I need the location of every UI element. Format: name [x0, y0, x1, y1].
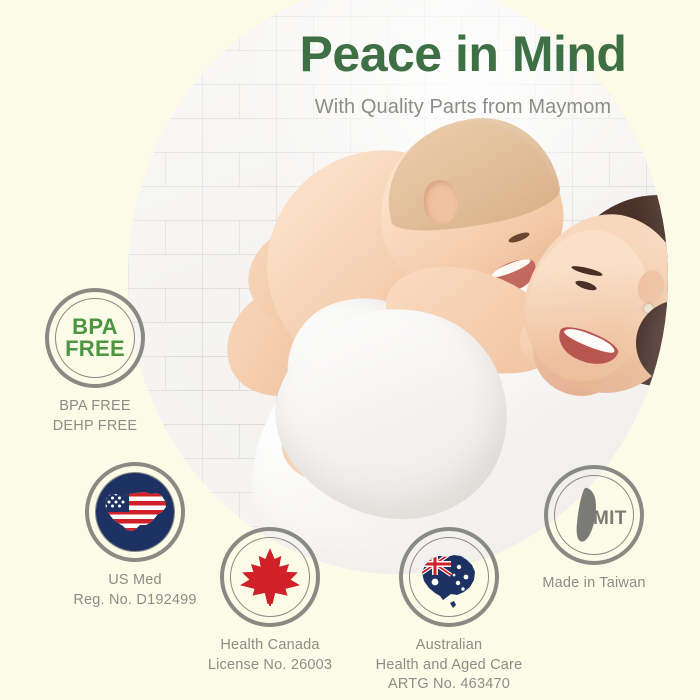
bpa-free-icon: BPA FREE [45, 288, 145, 388]
bpa-free-text-art: BPA FREE [53, 296, 137, 380]
australia-map-svg [409, 537, 489, 617]
taiwan-map-art: MIT [551, 472, 637, 558]
badge-caption-australian: Australian Health and Aged Care ARTG No.… [374, 636, 524, 695]
taiwan-island-icon: MIT [544, 465, 644, 565]
badge-caption-us-med: US Med Reg. No. D192499 [60, 571, 210, 610]
maple-leaf-art [235, 542, 305, 612]
badge-caption-health-canada: Health Canada License No. 26003 [195, 636, 345, 675]
badge-bpa-free[interactable]: BPA FREE BPA FREE DEHP FREE [25, 288, 165, 436]
usa-map-art [96, 473, 174, 551]
maple-leaf-svg [237, 544, 303, 610]
bpa-line-1: BPA [65, 316, 125, 338]
badge-caption-bpa-free: BPA FREE DEHP FREE [25, 397, 165, 436]
mit-label: MIT [593, 508, 627, 530]
badge-caption-made-in-taiwan: Made in Taiwan [519, 574, 669, 594]
badge-australian[interactable]: Australian Health and Aged Care ARTG No.… [374, 527, 524, 695]
canada-maple-leaf-icon [220, 527, 320, 627]
product-infographic-poster: Peace in Mind With Quality Parts from Ma… [0, 0, 700, 700]
usa-map-svg [96, 473, 174, 551]
bpa-line-2: FREE [65, 338, 125, 360]
page-title: Peace in Mind [248, 28, 678, 81]
australia-flag-map-icon [399, 527, 499, 627]
australia-map-art [409, 537, 489, 617]
badge-health-canada[interactable]: Health Canada License No. 26003 [195, 527, 345, 675]
page-subtitle: With Quality Parts from Maymom [248, 95, 678, 119]
usa-flag-map-icon [85, 462, 185, 562]
badge-made-in-taiwan[interactable]: MIT Made in Taiwan [519, 465, 669, 594]
badge-us-med[interactable]: US Med Reg. No. D192499 [60, 462, 210, 610]
headline-block: Peace in Mind With Quality Parts from Ma… [248, 28, 678, 119]
